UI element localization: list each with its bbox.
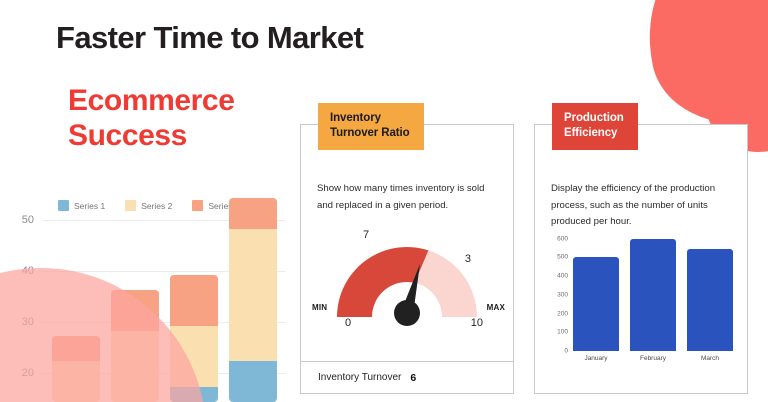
- stacked-bar: [111, 290, 159, 402]
- y-tick-label: 30: [22, 316, 34, 328]
- card-badge-inventory: Inventory Turnover Ratio: [318, 103, 424, 150]
- gauge-label-right-value: 3: [465, 253, 471, 265]
- production-x-label-february: February: [630, 355, 676, 362]
- gauge-label-min: MIN: [312, 303, 327, 312]
- production-bar-february: [630, 239, 676, 352]
- chart-legend: Series 1 Series 2 Series 3: [58, 200, 240, 211]
- stacked-bar-plot-area: 50 40 30 20: [0, 220, 286, 402]
- stacked-bar: [52, 336, 100, 402]
- legend-label-series-2: Series 2: [141, 201, 172, 211]
- production-bar-chart: 6005004003002001000 JanuaryFebruaryMarch: [545, 231, 739, 379]
- gauge-label-left-value: 7: [363, 229, 369, 241]
- production-y-tick-label: 300: [557, 291, 568, 298]
- gauge-label-max-value: 10: [471, 317, 483, 329]
- y-tick-label: 40: [22, 265, 34, 277]
- bar-segment-series-2: [229, 229, 277, 362]
- y-axis: 50 40 30 20: [0, 220, 42, 402]
- footer-value-inventory-turnover: 6: [410, 372, 416, 384]
- bar-segment-series-1: [229, 361, 277, 402]
- production-y-tick-label: 400: [557, 273, 568, 280]
- production-y-tick-label: 600: [557, 235, 568, 242]
- bar-segment-series-3: [111, 290, 159, 331]
- bar-segment-series-2: [170, 326, 218, 387]
- y-tick-label: 50: [22, 214, 34, 226]
- card-inventory-turnover-ratio: Inventory Turnover Ratio Show how many t…: [300, 124, 514, 394]
- production-bar-march: [687, 249, 733, 351]
- legend-swatch-series-3: [192, 200, 203, 211]
- production-y-tick-label: 500: [557, 254, 568, 261]
- legend-label-series-1: Series 1: [74, 201, 105, 211]
- card-description-inventory: Show how many times inventory is sold an…: [317, 181, 499, 214]
- gauge-svg: [317, 229, 497, 327]
- bar-segment-series-3: [52, 336, 100, 362]
- gauge-label-min-value: 0: [345, 317, 351, 329]
- legend-item: Series 1: [58, 200, 105, 211]
- page-title: Faster Time to Market: [56, 20, 363, 56]
- card-badge-production: Production Efficiency: [552, 103, 638, 150]
- bar-segment-series-2: [52, 361, 100, 402]
- production-y-tick-label: 0: [564, 348, 568, 355]
- stacked-bar-chart: Series 1 Series 2 Series 3 50 40 30 20: [0, 196, 286, 402]
- production-x-label-march: March: [687, 355, 733, 362]
- gauge-label-max: MAX: [487, 303, 505, 312]
- production-y-axis: 6005004003002001000: [545, 231, 571, 351]
- production-y-tick-label: 200: [557, 310, 568, 317]
- footer-label-inventory-turnover: Inventory Turnover: [318, 372, 401, 383]
- y-tick-label: 20: [22, 367, 34, 379]
- stacked-bar: [170, 275, 218, 402]
- production-bar-january: [573, 257, 619, 351]
- slide-canvas: Faster Time to Market Ecommerce Success …: [0, 0, 768, 402]
- production-bar-group: [573, 231, 733, 351]
- gauge-chart: 7 3 MIN MAX 0 10: [301, 229, 513, 341]
- legend-swatch-series-1: [58, 200, 69, 211]
- card-description-production: Display the efficiency of the production…: [551, 181, 733, 231]
- card-production-efficiency: Production Efficiency Display the effici…: [534, 124, 748, 394]
- stacked-bar: [229, 198, 277, 402]
- gauge-hub: [394, 300, 420, 326]
- production-x-axis: JanuaryFebruaryMarch: [573, 355, 733, 362]
- page-subtitle: Ecommerce Success: [68, 83, 235, 154]
- production-x-label-january: January: [573, 355, 619, 362]
- bar-segment-series-2: [111, 331, 159, 402]
- stacked-bar-group: [42, 220, 286, 402]
- production-y-tick-label: 100: [557, 329, 568, 336]
- bar-segment-series-3: [229, 198, 277, 229]
- legend-swatch-series-2: [125, 200, 136, 211]
- card-footer-inventory: Inventory Turnover 6: [301, 361, 513, 393]
- bar-segment-series-3: [170, 275, 218, 326]
- bar-segment-series-1: [170, 387, 218, 402]
- legend-item: Series 2: [125, 200, 172, 211]
